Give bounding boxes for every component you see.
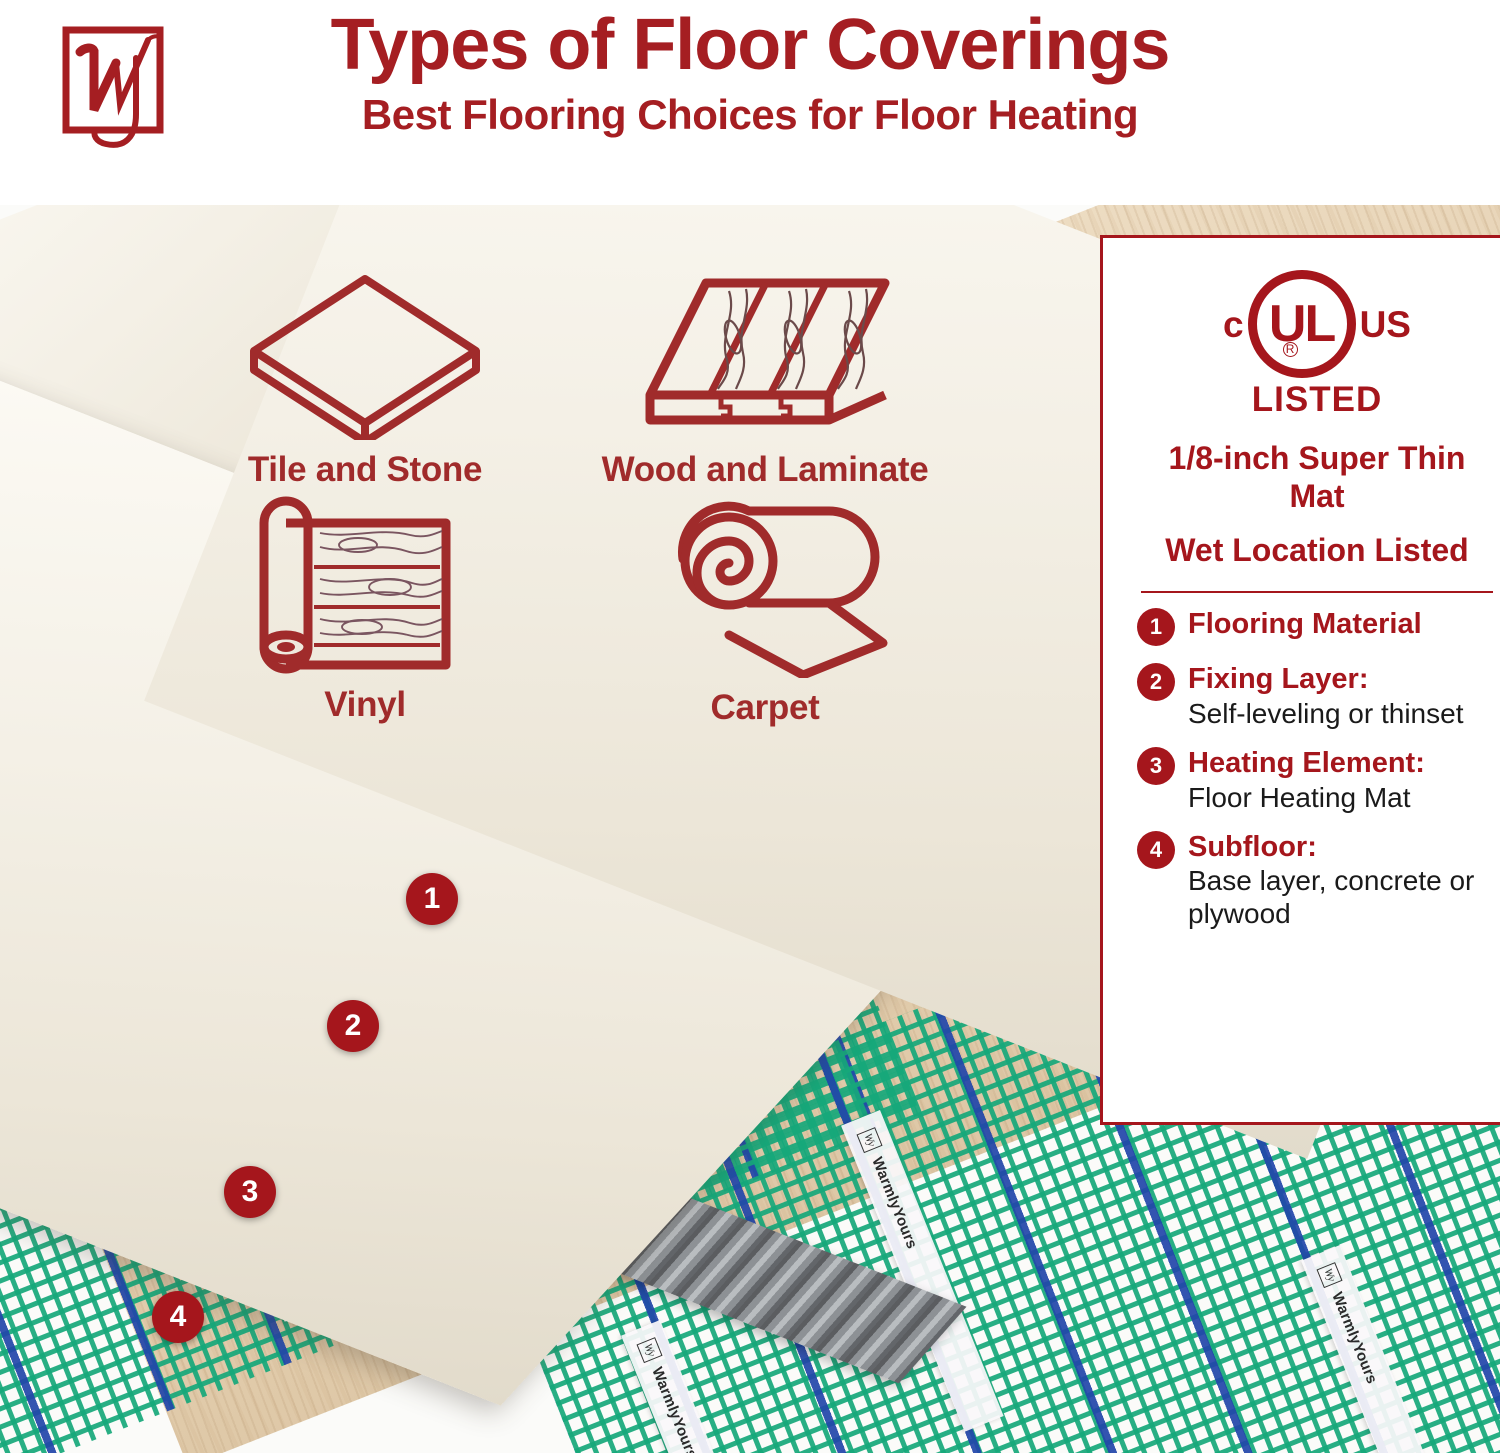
- ul-suffix-us: US: [1360, 306, 1411, 343]
- callout-badge-3: 3: [224, 1166, 276, 1218]
- legend-title: Subfloor:: [1188, 831, 1497, 865]
- registered-trademark-icon: R: [1283, 342, 1298, 357]
- legend-title: Heating Element:: [1188, 747, 1425, 781]
- callout-badge-4: 4: [152, 1291, 204, 1343]
- legend-title: Flooring Material: [1188, 608, 1422, 642]
- carpet-roll-icon: [633, 493, 898, 678]
- cul-us-listed-mark-icon: c UL R US LISTED: [1137, 270, 1497, 420]
- legend-item-4: 4 Subfloor: Base layer, concrete or plyw…: [1137, 830, 1497, 931]
- legend-item-1: 1 Flooring Material: [1137, 607, 1497, 646]
- floor-type-label: Wood and Laminate: [565, 450, 965, 490]
- legend-item-3: 3 Heating Element: Floor Heating Mat: [1137, 746, 1497, 814]
- tape-wy-logo-icon: Wy: [1317, 1262, 1343, 1288]
- ul-listed-label: LISTED: [1252, 380, 1382, 420]
- warmlyyours-logo-icon[interactable]: [44, 18, 184, 153]
- page-header: Types of Floor Coverings Best Flooring C…: [0, 0, 1500, 205]
- tape-wy-logo-icon: Wy: [857, 1127, 883, 1153]
- legend-badge-3: 3: [1137, 747, 1175, 785]
- wood-laminate-icon: [633, 265, 898, 440]
- floor-type-wood-laminate[interactable]: Wood and Laminate: [565, 265, 965, 490]
- legend-badge-1: 1: [1137, 608, 1175, 646]
- floor-type-label: Vinyl: [195, 685, 535, 725]
- callout-badge-1: 1: [406, 873, 458, 925]
- ul-letters: UL: [1269, 298, 1334, 350]
- floor-type-tile-stone[interactable]: Tile and Stone: [185, 265, 545, 490]
- legend-title: Fixing Layer:: [1188, 663, 1463, 697]
- panel-divider: [1141, 591, 1493, 593]
- legend-description: Floor Heating Mat: [1188, 781, 1425, 814]
- tape-wy-logo-icon: Wy: [637, 1337, 663, 1363]
- legend-badge-2: 2: [1137, 663, 1175, 701]
- legend-item-2: 2 Fixing Layer: Self-leveling or thinset: [1137, 662, 1497, 730]
- legend-description: Base layer, concrete or plywood: [1188, 864, 1497, 930]
- tile-stone-icon: [240, 265, 490, 440]
- legend-description: Self-leveling or thinset: [1188, 697, 1463, 730]
- floor-type-icon-grid: Tile and Stone: [0, 245, 1060, 775]
- legend-badge-4: 4: [1137, 831, 1175, 869]
- spec-line-thin-mat: 1/8-inch Super Thin Mat: [1137, 440, 1497, 516]
- vinyl-roll-core: [277, 642, 295, 652]
- floor-type-label: Tile and Stone: [185, 450, 545, 490]
- ul-circle-icon: UL R: [1248, 270, 1356, 378]
- title-block: Types of Floor Coverings Best Flooring C…: [250, 8, 1250, 138]
- page-title: Types of Floor Coverings: [250, 8, 1250, 84]
- floor-type-label: Carpet: [580, 688, 950, 728]
- spec-line-wet-location: Wet Location Listed: [1137, 532, 1497, 570]
- product-spec-panel: c UL R US LISTED 1/8-inch Super Thin Mat…: [1100, 235, 1500, 1125]
- floor-type-vinyl[interactable]: Vinyl: [195, 495, 535, 725]
- page-subtitle: Best Flooring Choices for Floor Heating: [250, 92, 1250, 138]
- callout-badge-2: 2: [327, 1000, 379, 1052]
- ul-prefix-c: c: [1223, 306, 1244, 343]
- floor-type-carpet[interactable]: Carpet: [580, 493, 950, 728]
- vinyl-roll-icon: [250, 495, 480, 675]
